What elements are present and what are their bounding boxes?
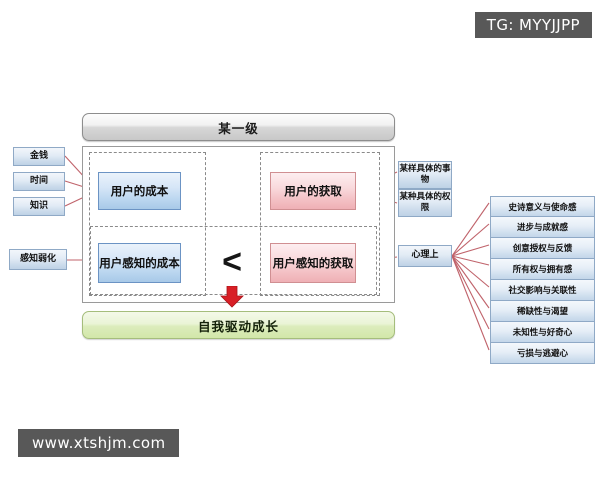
header-banner: 某一级 (82, 113, 395, 141)
core-drive-item[interactable]: 稀缺性与渴望 (490, 301, 595, 322)
core-drive-item[interactable]: 创意授权与反馈 (490, 238, 595, 259)
cost-input-time[interactable]: 时间 (13, 172, 65, 191)
cost-input-knowledge-label: 知识 (30, 201, 48, 212)
perceived-gain-output-psych-label: 心理上 (411, 250, 438, 261)
user-cost-box[interactable]: 用户的成本 (98, 172, 181, 210)
footer-label: 自我驱动成长 (198, 316, 279, 335)
core-drive-label: 社交影响与关联性 (508, 284, 576, 296)
header-label: 某一级 (218, 118, 259, 137)
core-drive-label: 未知性与好奇心 (513, 326, 573, 338)
core-drive-label: 亏损与逃避心 (517, 347, 568, 359)
core-drive-label: 所有权与拥有感 (513, 263, 573, 275)
user-gain-label: 用户的获取 (284, 184, 342, 198)
gain-output-thing[interactable]: 某样具体的事物 (398, 161, 452, 189)
perceived-cost-box[interactable]: 用户感知的成本 (98, 243, 181, 283)
gain-output-right[interactable]: 某种具体的权限 (398, 189, 452, 217)
perceived-gain-box[interactable]: 用户感知的获取 (270, 243, 356, 283)
core-drive-item[interactable]: 史诗意义与使命感 (490, 196, 595, 217)
perceived-gain-label: 用户感知的获取 (273, 256, 354, 270)
user-gain-box[interactable]: 用户的获取 (270, 172, 356, 210)
watermark-badge: www.xtshjm.com (18, 429, 179, 457)
core-drive-label: 创意授权与反馈 (513, 242, 573, 254)
core-drive-item[interactable]: 亏损与逃避心 (490, 343, 595, 364)
core-drive-label: 进步与成就感 (517, 221, 568, 233)
core-drive-item[interactable]: 未知性与好奇心 (490, 322, 595, 343)
core-drive-label: 稀缺性与渴望 (517, 305, 568, 317)
less-than-operator: < (214, 240, 250, 284)
core-drive-item[interactable]: 社交影响与关联性 (490, 280, 595, 301)
cost-input-money[interactable]: 金钱 (13, 147, 65, 166)
gain-output-thing-label: 某样具体的事物 (399, 164, 451, 185)
core-drive-item[interactable]: 所有权与拥有感 (490, 259, 595, 280)
watermark-label: www.xtshjm.com (32, 434, 165, 452)
core-drives-list: 史诗意义与使命感进步与成就感创意授权与反馈所有权与拥有感社交影响与关联性稀缺性与… (490, 196, 595, 364)
less-than-label: < (222, 245, 242, 279)
cost-input-money-label: 金钱 (30, 151, 48, 162)
footer-banner: 自我驱动成长 (82, 311, 395, 339)
tg-tag-badge: TG: MYYJJPP (475, 12, 592, 38)
core-drive-item[interactable]: 进步与成就感 (490, 217, 595, 238)
perceived-cost-label: 用户感知的成本 (99, 256, 180, 270)
down-arrow-icon (219, 286, 245, 308)
diagram-canvas: TG: MYYJJPP www.xtshjm.com 某一级 用户的成本 用户的… (0, 0, 600, 480)
perceived-cost-input-weaken-label: 感知弱化 (20, 254, 56, 265)
user-cost-label: 用户的成本 (111, 184, 169, 198)
core-drive-label: 史诗意义与使命感 (508, 201, 576, 213)
perceived-cost-input-weaken[interactable]: 感知弱化 (9, 249, 67, 270)
cost-input-time-label: 时间 (30, 176, 48, 187)
gain-output-right-label: 某种具体的权限 (399, 192, 451, 213)
tg-tag-label: TG: MYYJJPP (487, 16, 580, 34)
perceived-gain-output-psych[interactable]: 心理上 (398, 245, 452, 267)
cost-input-knowledge[interactable]: 知识 (13, 197, 65, 216)
